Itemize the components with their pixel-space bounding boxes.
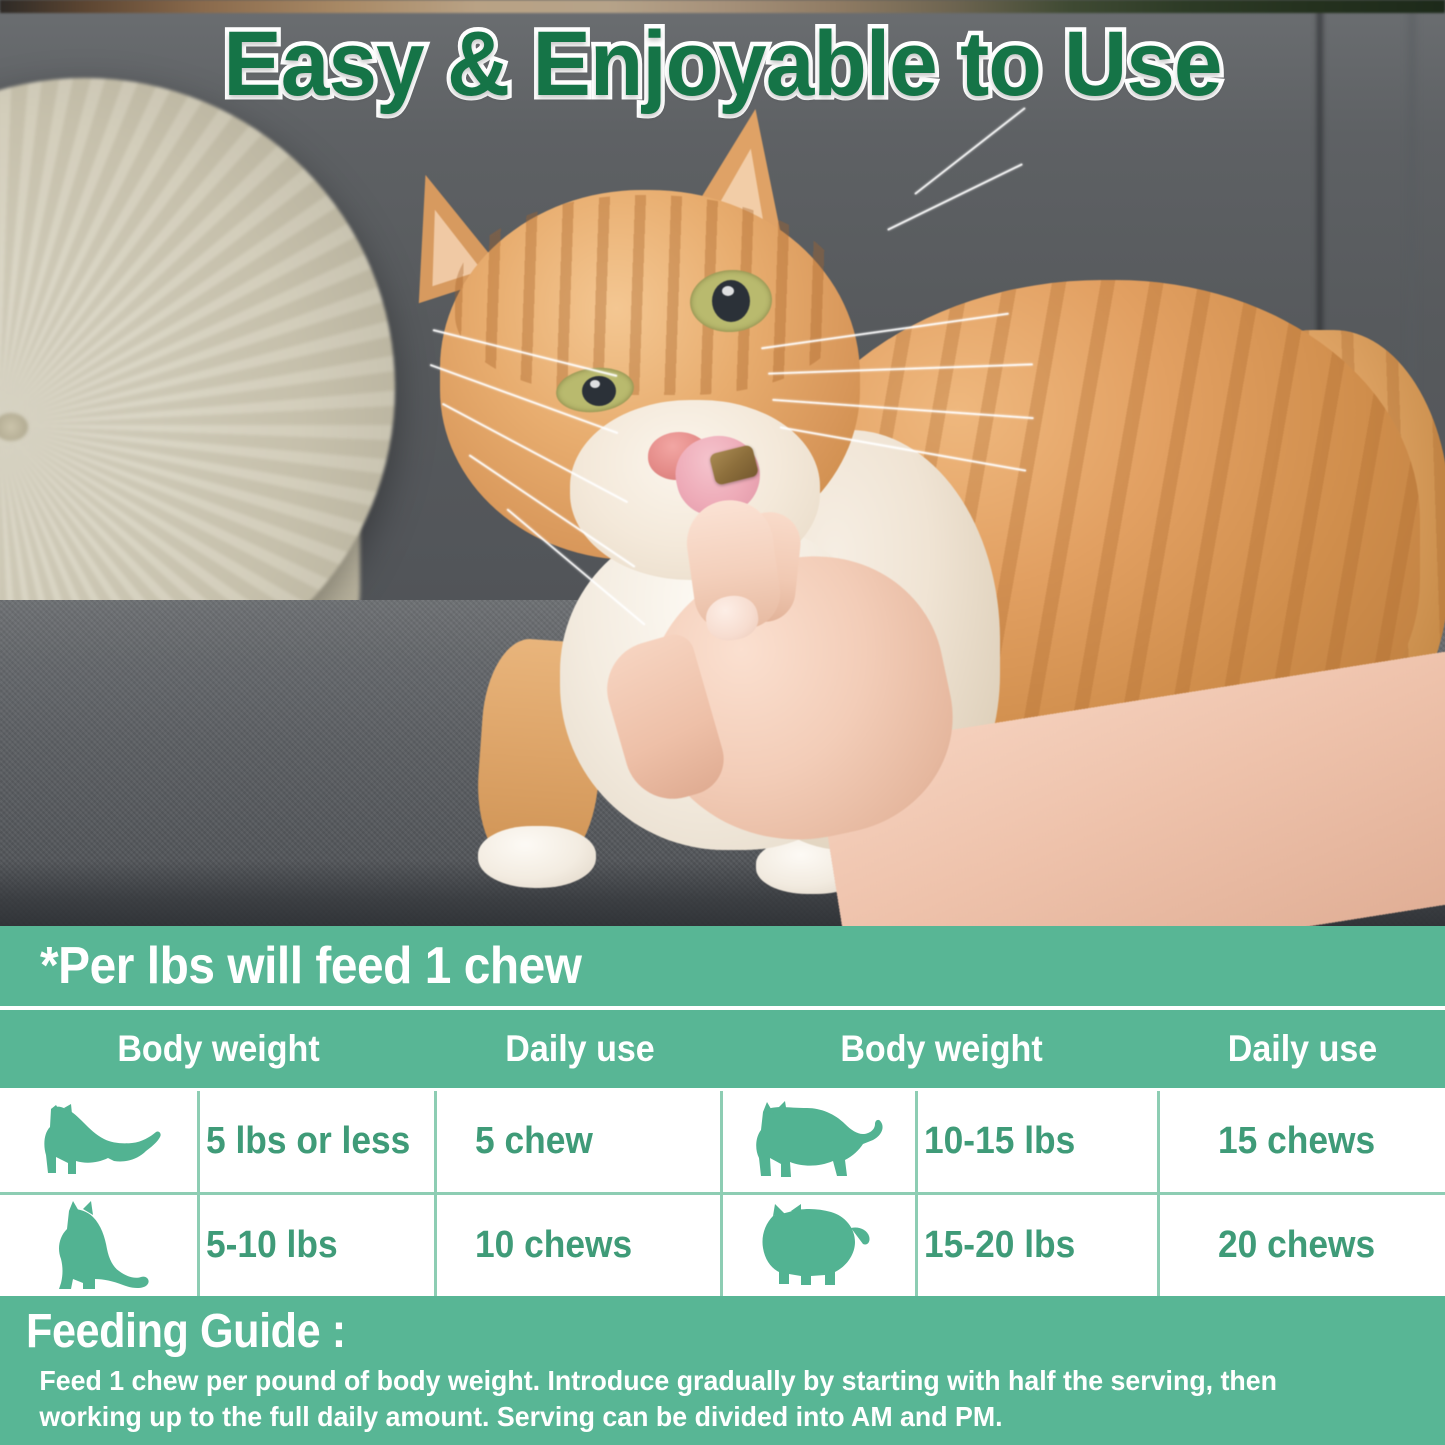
right-weight-value: 15-20 lbs: [924, 1224, 1075, 1267]
cell-right-weight-1: 10-15 lbs: [918, 1091, 1160, 1192]
cell-right-weight-2: 15-20 lbs: [918, 1195, 1160, 1296]
table-header-row: Body weight Daily use Body weight Daily …: [0, 1010, 1445, 1088]
cat-left-eye-glint: [590, 380, 600, 388]
column-header-body-weight-2: Body weight: [740, 1028, 1142, 1070]
left-dose-value: 5 chew: [475, 1120, 593, 1163]
per-lbs-note-band: *Per lbs will feed 1 chew: [0, 926, 1445, 1006]
column-header-daily-use-1: Daily use: [448, 1028, 711, 1070]
page-title: Easy & Enjoyable to Use: [36, 18, 1409, 112]
cell-left-dose-1: 5 chew: [437, 1091, 723, 1192]
left-weight-value: 5-10 lbs: [206, 1224, 338, 1267]
right-dose-value: 20 chews: [1218, 1224, 1375, 1267]
feeding-table: 5 lbs or less 5 chew 10-15 lbs 15 che: [0, 1088, 1445, 1296]
cell-right-dose-2: 20 chews: [1160, 1195, 1445, 1296]
cell-left-weight-2: 5-10 lbs: [200, 1195, 437, 1296]
cat-fluffy-icon: [723, 1195, 918, 1296]
whisker-icon: [914, 107, 1026, 195]
left-weight-value: 5 lbs or less: [206, 1120, 410, 1163]
feeding-guide-body: Feed 1 chew per pound of body weight. In…: [26, 1363, 1349, 1435]
right-dose-value: 15 chews: [1218, 1120, 1375, 1163]
cat-kitten-standing-icon: [0, 1091, 200, 1192]
column-header-daily-use-2: Daily use: [1171, 1028, 1433, 1070]
column-header-body-weight-1: Body weight: [17, 1028, 419, 1070]
cat-front-paw: [478, 826, 596, 888]
table-row: 5 lbs or less 5 chew 10-15 lbs 15 che: [0, 1091, 1445, 1195]
right-weight-value: 10-15 lbs: [924, 1120, 1075, 1163]
table-row: 5-10 lbs 10 chews 15-20 lbs: [0, 1195, 1445, 1296]
cat-forehead-stripes: [455, 195, 845, 395]
lifestyle-photo: Easy & Enjoyable to Use: [0, 0, 1445, 926]
cell-right-dose-1: 15 chews: [1160, 1091, 1445, 1192]
left-dose-value: 10 chews: [475, 1224, 632, 1267]
per-lbs-note: *Per lbs will feed 1 chew: [40, 936, 582, 996]
whisker-icon: [887, 163, 1023, 231]
feeding-guide-title: Feeding Guide :: [26, 1304, 1273, 1359]
cat-right-eye-glint: [722, 286, 734, 296]
feeding-guide-section: Feeding Guide : Feed 1 chew per pound of…: [0, 1296, 1445, 1445]
cat-sitting-icon: [0, 1195, 200, 1296]
product-infographic: Easy & Enjoyable to Use *Per lbs will fe…: [0, 0, 1445, 1445]
cell-left-dose-2: 10 chews: [437, 1195, 723, 1296]
cat-walking-icon: [723, 1091, 918, 1192]
cell-left-weight-1: 5 lbs or less: [200, 1091, 437, 1192]
cat-left-pupil: [582, 376, 616, 406]
